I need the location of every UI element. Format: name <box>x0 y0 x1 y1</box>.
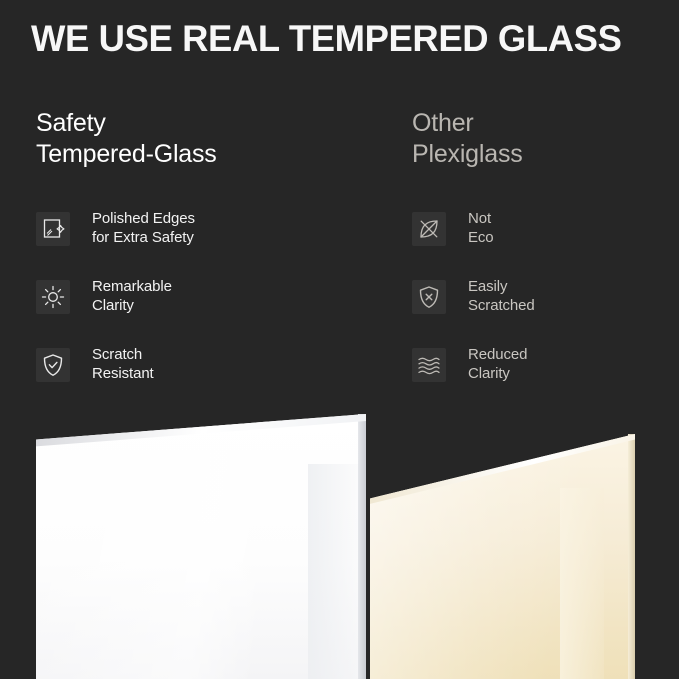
tempered-glass-edge <box>358 414 366 679</box>
feature-list-plexiglass: Not Eco Easily Scratched <box>412 212 677 416</box>
feature-item: Polished Edges for Extra Safety <box>36 212 366 280</box>
infographic-page: WE USE REAL TEMPERED GLASS Safety Temper… <box>0 0 679 679</box>
page-title: WE USE REAL TEMPERED GLASS <box>31 17 652 61</box>
feature-label: Not Eco <box>468 209 494 247</box>
wavy-distortion-icon <box>412 348 446 382</box>
column-tempered-glass: Safety Tempered-Glass Polished Edges for… <box>36 108 366 170</box>
shield-check-icon <box>36 348 70 382</box>
plexiglass-edge <box>628 434 635 679</box>
polished-edge-sparkle-icon <box>36 212 70 246</box>
shield-x-icon <box>412 280 446 314</box>
feature-item: Easily Scratched <box>412 280 677 348</box>
feature-label: Easily Scratched <box>468 277 535 315</box>
plexiglass-reflection <box>560 488 604 679</box>
column-title-tempered-glass: Safety Tempered-Glass <box>36 108 366 170</box>
leaf-crossed-out-icon <box>412 212 446 246</box>
feature-label: Polished Edges for Extra Safety <box>92 209 195 247</box>
tempered-glass-reflection <box>308 464 364 679</box>
column-title-plexiglass: Other Plexiglass <box>412 108 677 170</box>
feature-label: Scratch Resistant <box>92 345 154 383</box>
sun-brightness-icon <box>36 280 70 314</box>
feature-item: Remarkable Clarity <box>36 280 366 348</box>
feature-label: Reduced Clarity <box>468 345 527 383</box>
feature-label: Remarkable Clarity <box>92 277 172 315</box>
feature-item: Not Eco <box>412 212 677 280</box>
column-plexiglass: Other Plexiglass Not Eco <box>412 108 677 170</box>
product-comparison-photo <box>0 392 679 679</box>
feature-list-tempered-glass: Polished Edges for Extra Safety <box>36 212 366 416</box>
